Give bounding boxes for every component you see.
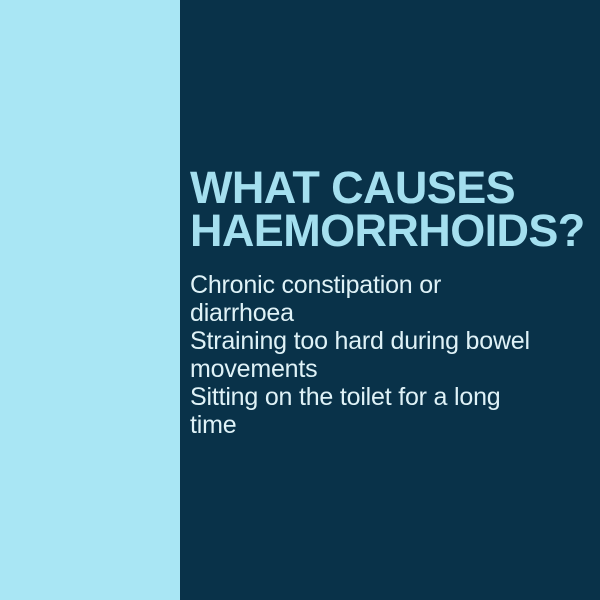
causes-list: Chronic constipation or diarrhoea Strain… <box>190 271 600 439</box>
page-title-line-2: HAEMORRHOIDS? <box>190 209 600 252</box>
left-accent-band <box>0 0 180 600</box>
page-title-line-1: WHAT CAUSES <box>190 166 600 209</box>
poster-canvas: WHAT CAUSES HAEMORRHOIDS? Chronic consti… <box>0 0 600 600</box>
list-item: Straining too hard during bowel movement… <box>190 327 550 383</box>
page-title: WHAT CAUSES HAEMORRHOIDS? <box>190 166 600 252</box>
list-item: Sitting on the toilet for a long time <box>190 383 550 439</box>
content-block: WHAT CAUSES HAEMORRHOIDS? Chronic consti… <box>190 166 600 439</box>
list-item: Chronic constipation or diarrhoea <box>190 271 550 327</box>
